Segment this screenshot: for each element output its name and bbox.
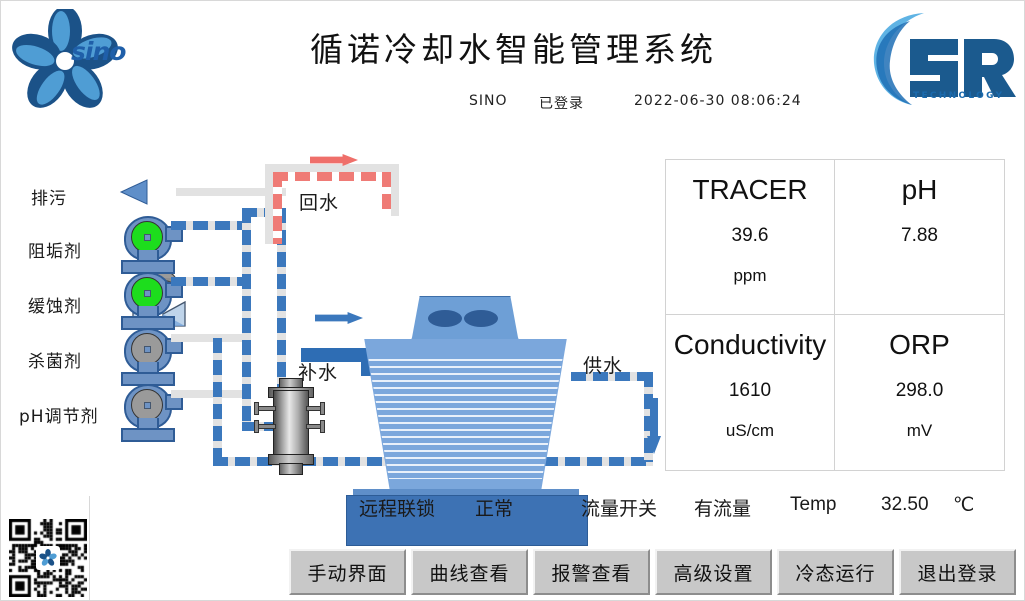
blowdown-arrow-icon: [119, 178, 149, 206]
measurement-cell-orp: ORP 298.0 mV: [835, 315, 1004, 470]
vessel-nozzle-left-2: [256, 424, 276, 429]
qr-code[interactable]: [9, 519, 87, 597]
vessel-nozzle-right-1-flange: [320, 402, 325, 415]
measurement-cell-tracer: TRACER 39.6 ppm: [666, 160, 835, 315]
temperature-value: 32.50: [881, 494, 929, 516]
vessel-shell: [273, 390, 309, 458]
dosing-line-ph-adjuster: [171, 390, 249, 398]
qr-divider: [89, 496, 90, 601]
flow-switch-value: 有流量: [694, 494, 751, 521]
remote-interlock-label: 远程联锁: [359, 494, 435, 521]
measurement-value: 7.88: [901, 225, 938, 247]
measurement-cell-conductivity: Conductivity 1610 uS/cm: [666, 315, 835, 470]
measurement-value: 39.6: [732, 225, 769, 247]
pump-antiscalant[interactable]: [119, 216, 175, 274]
label-return-water: 回水: [299, 188, 339, 215]
measurement-unit: ppm: [733, 266, 766, 286]
makeup-water-arrow-icon: [311, 312, 367, 324]
logout-button[interactable]: 退出登录: [899, 549, 1016, 595]
application-window: sino 循诺冷却水智能管理系统 SINO 已登录 2022-06-30 08:…: [0, 0, 1025, 601]
pump-biocide[interactable]: [119, 328, 175, 386]
pump-ph-adjuster[interactable]: [119, 384, 175, 442]
label-antiscalant: 阻垢剂: [28, 237, 82, 262]
measurement-label: ORP: [889, 329, 950, 361]
label-blowdown: 排污: [31, 184, 67, 209]
label-makeup-water: 补水: [298, 358, 338, 385]
vessel-nozzle-right-2-flange: [320, 420, 325, 433]
pump-rotor-on: [131, 221, 163, 253]
3r-logo-subtitle: TECHNOLOGY: [913, 91, 1004, 101]
measurement-label: TRACER: [692, 174, 807, 206]
return-water-drop: [382, 172, 391, 212]
pump-rotor-off: [131, 389, 163, 421]
vessel-nozzle-left-2-flange: [254, 420, 259, 433]
qr-center-logo: [36, 546, 60, 570]
measurement-label: pH: [902, 174, 938, 206]
return-water-casing-right: [391, 164, 399, 216]
vessel-nozzle-left-1: [256, 406, 276, 411]
fan-blade-right: [464, 310, 498, 327]
supply-water-arrow-icon: [647, 398, 661, 454]
measurement-unit: mV: [907, 421, 933, 441]
header-bar: sino 循诺冷却水智能管理系统 SINO 已登录 2022-06-30 08:…: [1, 1, 1025, 126]
fan-blade-left: [428, 310, 462, 327]
advanced-settings-button[interactable]: 高级设置: [655, 549, 772, 595]
label-biocide: 杀菌剂: [28, 347, 82, 372]
cooling-tower-fan-housing: [411, 296, 519, 343]
pump-rotor-off: [131, 333, 163, 365]
temperature-unit: ℃: [953, 494, 974, 517]
sino-pinwheel-icon: [39, 549, 57, 567]
dosing-line-corrosion-inhibitor: [171, 277, 249, 286]
cooling-tower-fill-media: [353, 354, 578, 479]
header-datetime: 2022-06-30 08:06:24: [634, 93, 802, 109]
heat-exchanger-vessel: [266, 378, 314, 473]
3r-technology-logo: TECHNOLOGY: [866, 5, 1016, 117]
measurement-label: Conductivity: [674, 329, 827, 361]
temperature-label: Temp: [790, 494, 836, 516]
measurement-unit: uS/cm: [726, 421, 774, 441]
button-bar: 手动界面 曲线查看 报警查看 高级设置 冷态运行 退出登录: [289, 549, 1016, 595]
flow-switch-label: 流量开关: [581, 494, 657, 521]
measurement-cell-ph: pH 7.88: [835, 160, 1004, 315]
label-ph-adjuster: pH调节剂: [19, 402, 99, 427]
alarm-view-button[interactable]: 报警查看: [533, 549, 650, 595]
header-username: SINO: [469, 93, 508, 109]
remote-interlock-value: 正常: [475, 494, 513, 521]
vessel-nozzle-left-1-flange: [254, 402, 259, 415]
dosing-line-biocide: [171, 334, 249, 342]
pump-rotor-on: [131, 277, 163, 309]
pump-base: [121, 428, 175, 442]
return-water-arrow-icon: [306, 154, 362, 166]
header-login-status: 已登录: [539, 93, 584, 113]
loop-left-riser: [242, 208, 251, 430]
label-supply-water: 供水: [583, 351, 623, 378]
pump-corrosion-inhibitor[interactable]: [119, 272, 175, 330]
measurement-value: 1610: [729, 380, 771, 402]
manual-interface-button[interactable]: 手动界面: [289, 549, 406, 595]
dosing-line-antiscalant: [171, 221, 249, 230]
return-water-riser: [273, 172, 282, 244]
measurement-panel: TRACER 39.6 ppm pH 7.88 Conductivity 161…: [665, 159, 1005, 471]
process-flow-diagram: 排污 阻垢剂 缓蚀剂 杀菌剂 pH调节剂: [1, 126, 661, 491]
status-row: 远程联锁 正常 流量开关 有流量 Temp 32.50 ℃: [1, 494, 1025, 530]
return-water-run: [273, 172, 391, 181]
vessel-bottom-dome: [279, 463, 303, 475]
loop-outer-down: [213, 338, 222, 466]
measurement-value: 298.0: [896, 380, 944, 402]
cold-standby-button[interactable]: 冷态运行: [777, 549, 894, 595]
trend-curve-button[interactable]: 曲线查看: [411, 549, 528, 595]
return-water-casing-left: [265, 164, 273, 244]
label-corrosion-inhibitor: 缓蚀剂: [28, 292, 82, 317]
